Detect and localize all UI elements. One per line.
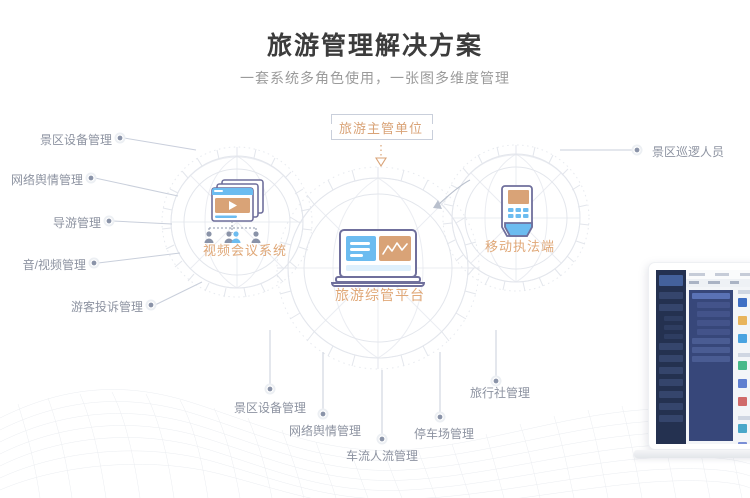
- mock-grid-icon[interactable]: [738, 361, 747, 370]
- mock-grid-icon[interactable]: [738, 298, 747, 307]
- mock-group-title: [738, 416, 750, 420]
- mock-nav-item[interactable]: [659, 379, 683, 386]
- leaf-label-left-2: 网络舆情管理: [0, 171, 83, 188]
- mock-grid-icon[interactable]: [738, 334, 747, 343]
- mock-nav-item[interactable]: [659, 391, 683, 398]
- leaf-label-left-4: 音/视频管理: [0, 256, 86, 273]
- ring-left: [162, 147, 312, 297]
- bottom-connectors: [270, 330, 496, 434]
- mock-topbar-item[interactable]: [740, 273, 750, 276]
- mock-grid-icon[interactable]: [738, 379, 747, 388]
- laptop-lid: [648, 262, 750, 450]
- mock-tab[interactable]: [730, 281, 739, 284]
- mock-tree-row[interactable]: [697, 329, 730, 335]
- leaf-label-bottom-5: 旅行社管理: [440, 384, 560, 401]
- mock-topbar-item[interactable]: [689, 273, 705, 276]
- mock-icon-group: [736, 290, 750, 350]
- leaf-label-left-5: 游客投诉管理: [0, 298, 143, 315]
- mock-tree-row[interactable]: [692, 293, 730, 299]
- page-subtitle: 一套系统多角色使用，一张图多维度管理: [0, 68, 750, 88]
- mock-nav-subitem[interactable]: [664, 334, 683, 339]
- leaf-label-bottom-2: 网络舆情管理: [245, 422, 405, 439]
- mock-grid-icon[interactable]: [738, 442, 747, 444]
- mock-tree-row[interactable]: [692, 338, 730, 344]
- dotted-arrow-down-icon: [376, 145, 386, 166]
- mock-tab[interactable]: [708, 281, 720, 284]
- ring-link-arrow: [433, 180, 470, 209]
- mock-tab[interactable]: [689, 281, 699, 284]
- node-label-video-conference: 视频会议系统: [180, 240, 310, 259]
- mock-nav-item[interactable]: [659, 403, 683, 410]
- mock-tree-row[interactable]: [692, 347, 730, 353]
- mock-group-title: [738, 290, 750, 294]
- mock-topbar-item[interactable]: [715, 273, 729, 276]
- authority-badge: 旅游主管单位: [331, 114, 431, 140]
- mock-icon-grid: [736, 290, 750, 441]
- mock-nav-subitem[interactable]: [664, 325, 683, 330]
- mock-nav-subitem[interactable]: [664, 316, 683, 321]
- leaf-label-bottom-1: 景区设备管理: [190, 399, 350, 416]
- mock-grid-icon[interactable]: [738, 397, 747, 406]
- leaf-label-left-3: 导游管理: [0, 214, 101, 231]
- dashboard-screen: [656, 270, 750, 444]
- right-node-dots: [632, 145, 643, 156]
- handheld-terminal-icon: [502, 186, 532, 236]
- mock-nav-item[interactable]: [659, 343, 683, 350]
- video-window-people-icon: [205, 180, 264, 243]
- platform-label: 旅游综管平台: [295, 285, 465, 305]
- leaf-label-bottom-4: 停车场管理: [384, 425, 504, 442]
- mock-icon-group: [736, 416, 750, 444]
- mock-topbar: [686, 270, 750, 279]
- mock-tree-row[interactable]: [697, 320, 730, 326]
- page-title: 旅游管理解决方案: [0, 26, 750, 62]
- mock-tree-panel[interactable]: [689, 290, 733, 441]
- mock-tabbar: [686, 279, 750, 287]
- mock-nav-item[interactable]: [659, 367, 683, 374]
- authority-badge-label: 旅游主管单位: [337, 118, 425, 137]
- leaf-label-left-1: 景区设备管理: [0, 131, 112, 148]
- mock-tree-row[interactable]: [697, 302, 730, 308]
- leaf-label-right-1: 景区巡逻人员: [652, 143, 724, 160]
- mock-icon-group: [736, 353, 750, 413]
- mock-nav-item[interactable]: [659, 355, 683, 362]
- mock-group-title: [738, 353, 750, 357]
- mock-nav-item[interactable]: [659, 415, 683, 422]
- leaf-label-bottom-3: 车流人流管理: [302, 447, 462, 464]
- infographic-canvas: 旅游管理解决方案 一套系统多角色使用，一张图多维度管理 旅游主管单位 旅游综管平…: [0, 0, 750, 498]
- laptop-dashboard-icon: [332, 230, 424, 286]
- mock-tree-row[interactable]: [692, 356, 730, 362]
- mock-grid-icon[interactable]: [738, 424, 747, 433]
- mock-sidebar[interactable]: [656, 270, 686, 444]
- mock-logo: [659, 275, 683, 286]
- mock-nav-item[interactable]: [659, 304, 683, 311]
- dashboard-laptop-mockup: [648, 262, 750, 467]
- node-label-mobile-enforcement: 移动执法端: [455, 236, 585, 255]
- laptop-base: [634, 450, 750, 458]
- mock-nav-item[interactable]: [659, 292, 683, 299]
- mock-tree-row[interactable]: [697, 311, 730, 317]
- mock-grid-icon[interactable]: [738, 316, 747, 325]
